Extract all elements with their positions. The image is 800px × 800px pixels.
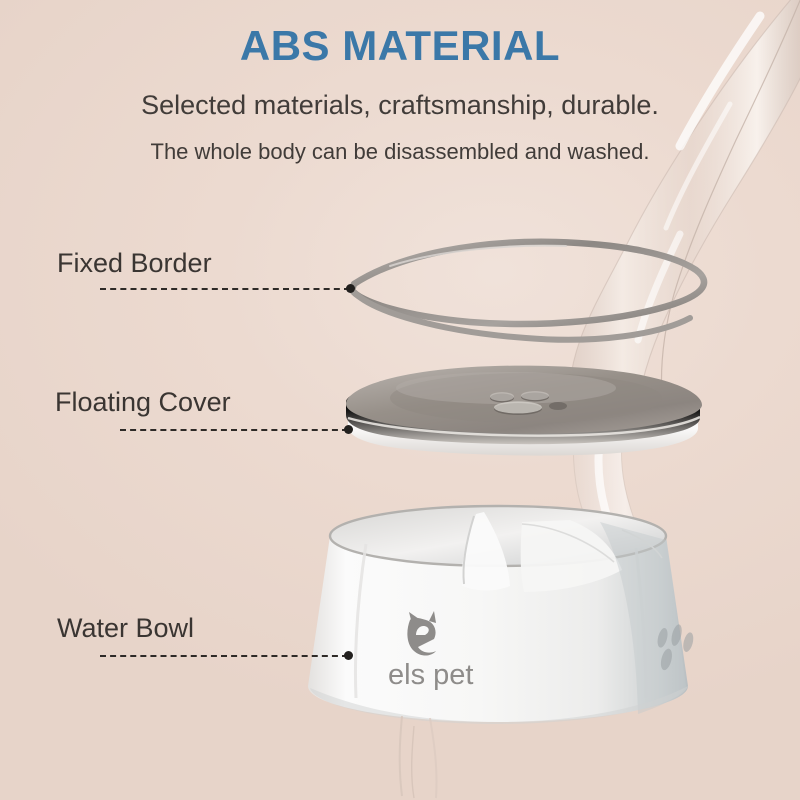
callout-water-bowl: Water Bowl [57, 615, 194, 642]
callout-label-floating-cover: Floating Cover [55, 389, 231, 416]
floating-cover-part [330, 358, 710, 473]
wire-ring-top [352, 242, 704, 324]
infographic-canvas: els pet ABS MATERIAL Selected materials,… [0, 0, 800, 800]
water-drips [380, 716, 580, 800]
fixed-border-part [330, 228, 730, 358]
callout-label-water-bowl: Water Bowl [57, 615, 194, 642]
leader-line-water-bowl [100, 655, 348, 657]
leader-line-fixed-border [100, 288, 350, 290]
callout-label-fixed-border: Fixed Border [57, 250, 212, 277]
leader-line-floating-cover [120, 429, 348, 431]
brand-name-els: els pet [388, 659, 473, 691]
subtitle-primary: Selected materials, craftsmanship, durab… [0, 90, 800, 121]
leader-dot-fixed-border [346, 284, 355, 293]
callout-floating-cover: Floating Cover [55, 389, 231, 416]
leader-dot-water-bowl [344, 651, 353, 660]
callout-fixed-border: Fixed Border [57, 250, 212, 277]
leader-dot-floating-cover [344, 425, 353, 434]
subtitle-secondary: The whole body can be disassembled and w… [0, 139, 800, 165]
page-title: ABS MATERIAL [0, 22, 800, 70]
